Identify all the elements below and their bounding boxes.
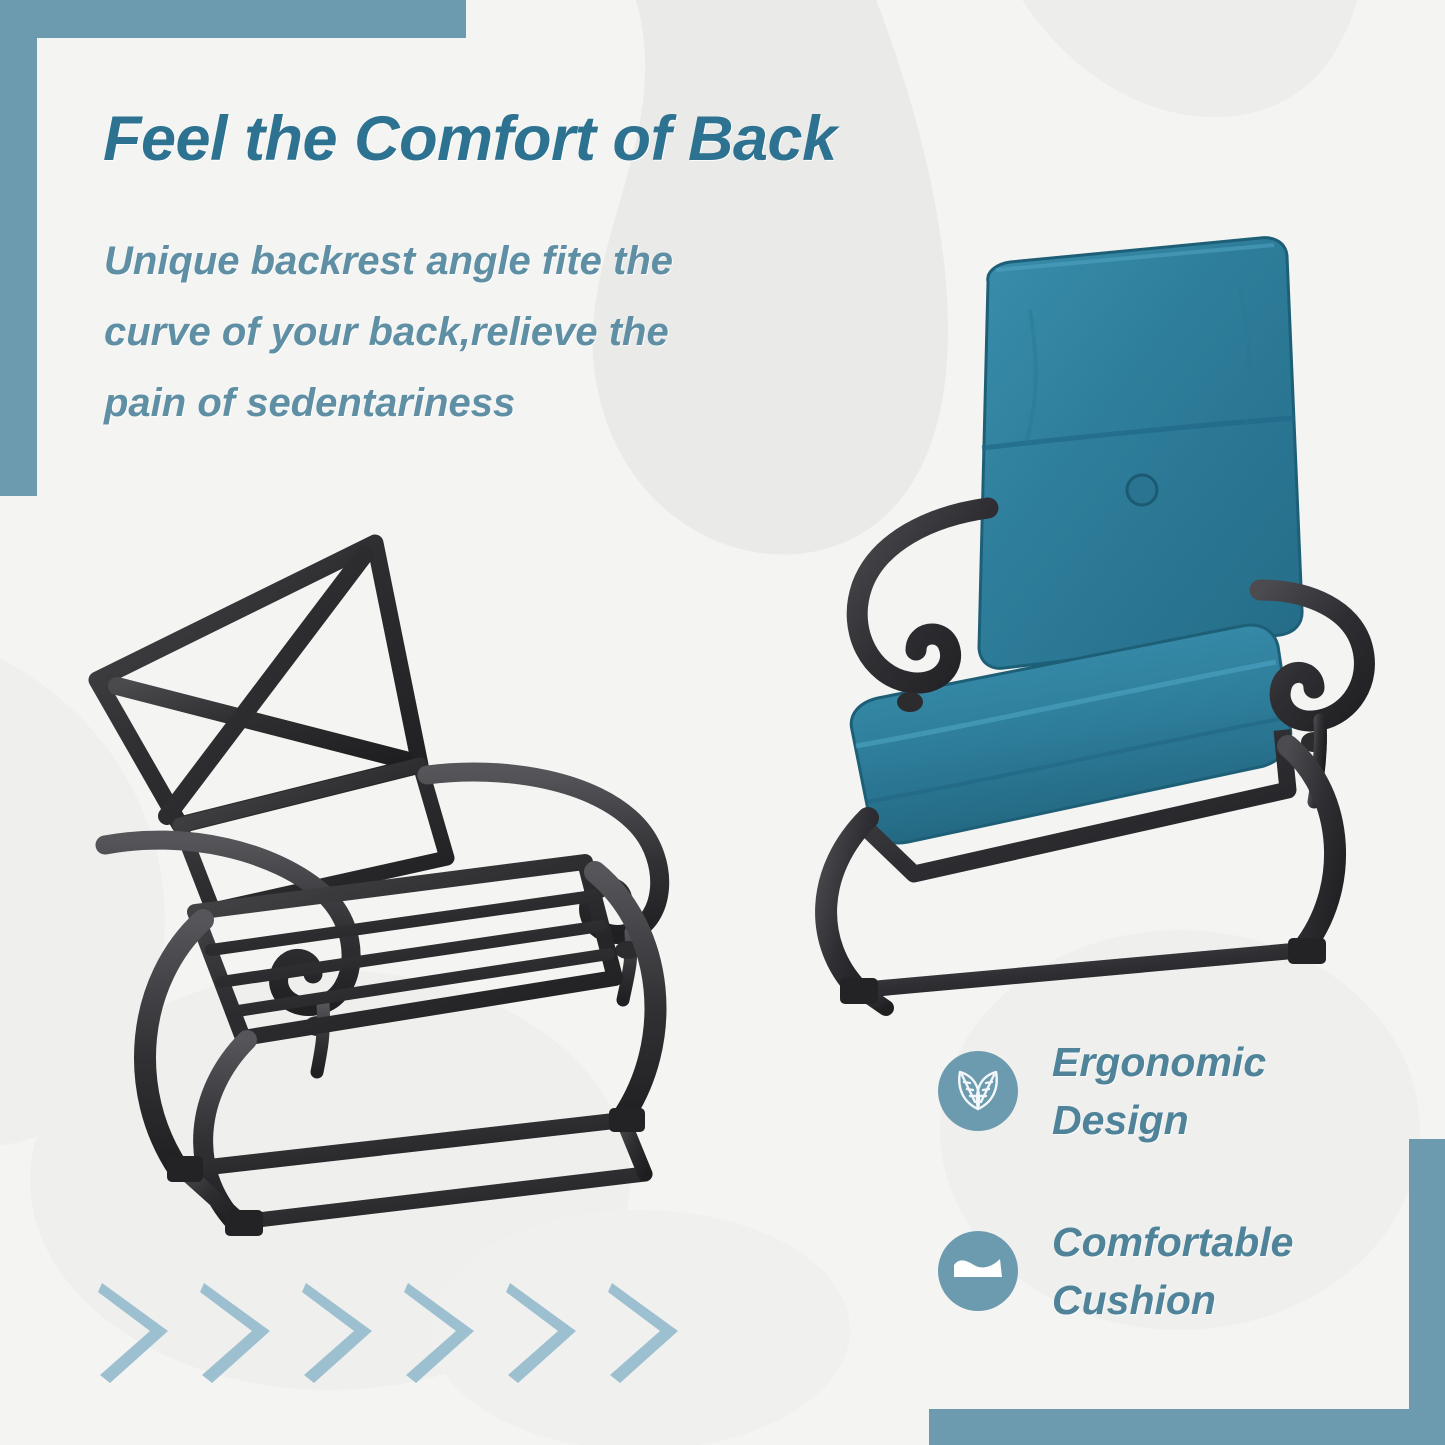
base-rail-top xyxy=(183,1120,623,1170)
foot-pad-left xyxy=(840,978,878,1004)
subtitle-line-2: curve of your back,relieve the xyxy=(104,297,824,368)
feature-label-line-2: Cushion xyxy=(1052,1271,1293,1329)
subtitle-line-1: Unique backrest angle fite the xyxy=(104,226,824,297)
leaf-icon xyxy=(951,1064,1005,1118)
feature-icon-badge xyxy=(938,1051,1018,1131)
product-image-chair-cushioned xyxy=(790,190,1400,1020)
base-rail-top xyxy=(860,950,1304,990)
subtitle-line-3: pain of sedentariness xyxy=(104,368,824,439)
feature-label-line-1: Comfortable xyxy=(1052,1213,1293,1271)
chevron-right-icon xyxy=(504,1280,612,1386)
frame-top-left-vertical xyxy=(0,0,37,496)
c-spring-leg-front-left xyxy=(826,818,868,990)
chevron-right-icon xyxy=(300,1280,408,1386)
chevron-right-icon xyxy=(606,1280,714,1386)
back-cushion xyxy=(979,238,1302,669)
feature-ergonomic-design: Ergonomic Design xyxy=(938,1033,1266,1149)
marketing-banner: Feel the Comfort of Back Unique backrest… xyxy=(0,0,1445,1445)
feature-label-line-2: Design xyxy=(1052,1091,1266,1149)
chevron-right-icon xyxy=(402,1280,510,1386)
frame-bottom-right-vertical xyxy=(1409,1139,1445,1445)
armrest-left-finial xyxy=(897,692,923,712)
foot-pad-right xyxy=(1288,938,1326,964)
feature-label: Comfortable Cushion xyxy=(1052,1213,1293,1329)
feature-comfortable-cushion: Comfortable Cushion xyxy=(938,1213,1293,1329)
chevron-right-icon xyxy=(96,1280,204,1386)
chevron-right-icon xyxy=(198,1280,306,1386)
cushion-icon xyxy=(950,1243,1006,1299)
feature-icon-badge xyxy=(938,1231,1018,1311)
feature-label: Ergonomic Design xyxy=(1052,1033,1266,1149)
feature-label-line-1: Ergonomic xyxy=(1052,1033,1266,1091)
product-image-chair-frame xyxy=(75,480,725,1240)
chevron-arrow-row xyxy=(96,1280,708,1386)
page-title: Feel the Comfort of Back xyxy=(103,108,837,171)
base-rail-bottom xyxy=(241,1174,645,1222)
armrest-left-post xyxy=(317,1004,324,1072)
foot-pad-right xyxy=(609,1108,645,1132)
frame-top-left-horizontal xyxy=(0,0,466,38)
armrest-left xyxy=(857,508,988,683)
foot-pad-left xyxy=(167,1156,203,1182)
frame-bottom-right-horizontal xyxy=(929,1409,1445,1445)
foot-pad-front xyxy=(225,1210,263,1236)
page-subtitle: Unique backrest angle fite the curve of … xyxy=(104,226,824,440)
